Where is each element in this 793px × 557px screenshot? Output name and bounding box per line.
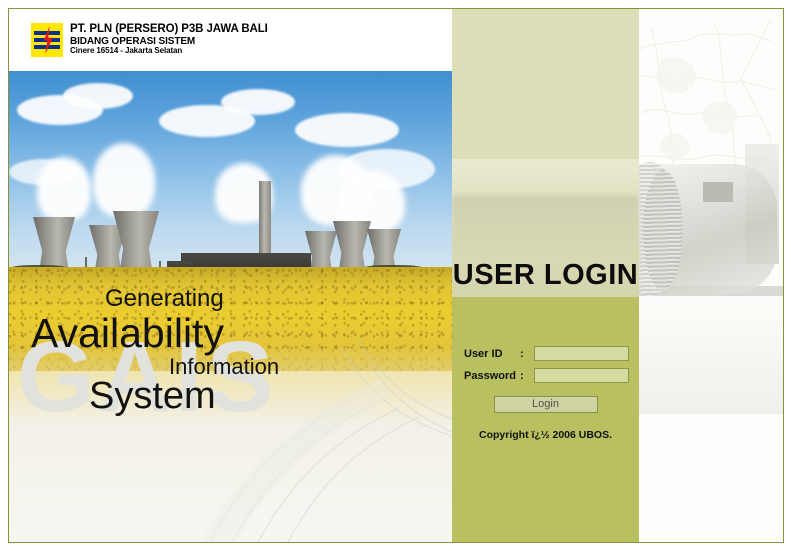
page-title: USER LOGIN	[452, 259, 639, 292]
login-panel-top	[452, 9, 639, 297]
copyright-text: Copyright ï¿½ 2006 UBOS.	[452, 429, 639, 441]
brand-header: PT. PLN (PERSERO) P3B JAWA BALI BIDANG O…	[31, 23, 268, 69]
login-panel: USER LOGIN User ID : Password : Login Co…	[452, 9, 639, 543]
headline-availability: Availability	[31, 310, 224, 357]
user-id-input[interactable]	[534, 346, 629, 361]
password-label: Password	[464, 370, 520, 382]
generator-turbine-photo	[617, 144, 784, 543]
login-page: GAIS Generating Availability Information…	[8, 8, 784, 543]
password-input[interactable]	[534, 368, 629, 383]
user-id-colon: :	[520, 348, 534, 360]
login-form: User ID : Password : Login Copyright ï¿½…	[452, 346, 639, 441]
login-button[interactable]: Login	[494, 396, 598, 413]
user-id-label: User ID	[464, 348, 520, 360]
power-station-photo: GAIS Generating Availability Information…	[9, 9, 452, 543]
headline-generating: Generating	[105, 285, 224, 313]
company-address: Cinere 16514 - Jakarta Selatan	[70, 47, 268, 56]
pln-lightning-logo-icon	[31, 23, 63, 57]
password-row: Password :	[452, 368, 639, 383]
company-name: PT. PLN (PERSERO) P3B JAWA BALI	[70, 23, 268, 36]
password-colon: :	[520, 370, 534, 382]
user-id-row: User ID :	[452, 346, 639, 361]
headline-system: System	[89, 375, 216, 418]
